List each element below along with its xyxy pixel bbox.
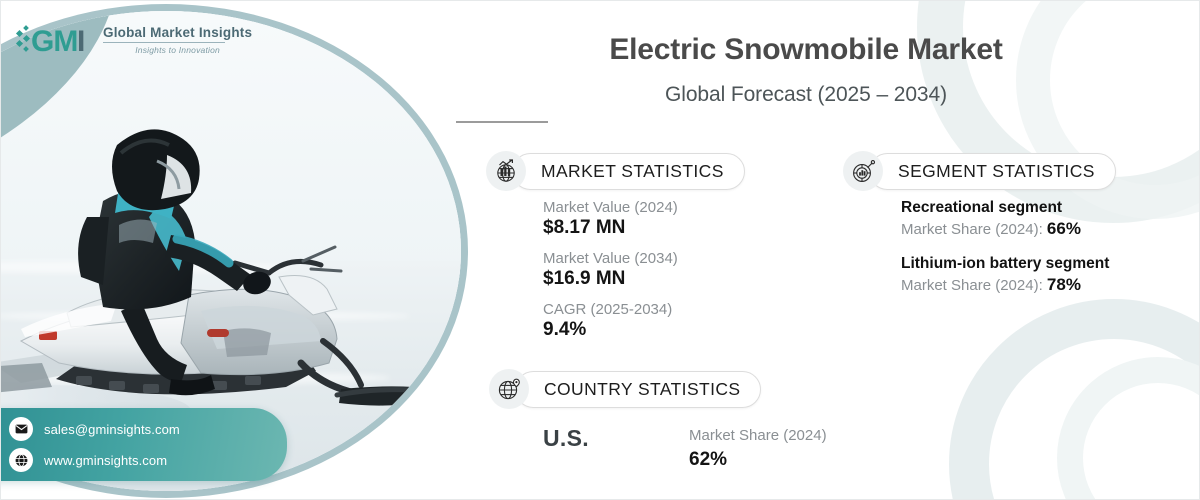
- infographic-root: GM I Global Market Insights Insights to …: [0, 0, 1200, 500]
- segment-2-name: Lithium-ion battery segment: [901, 255, 1109, 273]
- market-statistics-label: MARKET STATISTICS: [512, 153, 745, 190]
- logo-text: Global Market Insights Insights to Innov…: [103, 26, 252, 55]
- contact-website: www.gminsights.com: [44, 453, 167, 468]
- market-value-2034-label: Market Value (2034): [543, 250, 678, 267]
- country-statistics-label: COUNTRY STATISTICS: [515, 371, 761, 408]
- market-statistics-header[interactable]: MARKET STATISTICS: [486, 151, 745, 191]
- gmi-diamond-mark-icon: GM I: [15, 23, 95, 57]
- segment-2-share: Market Share (2024): 78%: [901, 275, 1109, 295]
- segment-2-share-label: Market Share (2024):: [901, 277, 1047, 294]
- segment-1-share: Market Share (2024): 66%: [901, 219, 1109, 239]
- content-area: Electric Snowmobile Market Global Foreca…: [451, 1, 1199, 500]
- logo-tagline: Insights to Innovation: [103, 46, 252, 55]
- segment-2-share-value: 78%: [1047, 275, 1081, 294]
- svg-text:I: I: [77, 25, 85, 57]
- gmi-logo[interactable]: GM I Global Market Insights Insights to …: [15, 23, 252, 57]
- country-statistics-header[interactable]: COUNTRY STATISTICS: [489, 369, 761, 409]
- page-subtitle: Global Forecast (2025 – 2034): [456, 83, 1156, 107]
- logo-company-name: Global Market Insights: [103, 26, 252, 40]
- segment-statistics-header[interactable]: SEGMENT STATISTICS: [843, 151, 1116, 191]
- svg-text:GM: GM: [31, 25, 77, 57]
- segment-statistics-values: Recreational segment Market Share (2024)…: [901, 199, 1109, 311]
- segment-1-share-label: Market Share (2024):: [901, 221, 1047, 238]
- market-value-2034-value: $16.9 MN: [543, 268, 678, 290]
- segment-1-share-value: 66%: [1047, 219, 1081, 238]
- envelope-icon: [9, 417, 33, 441]
- contact-badge[interactable]: sales@gminsights.com www.gminsights.com: [0, 408, 287, 481]
- page-title: Electric Snowmobile Market: [456, 33, 1156, 67]
- contact-email-row[interactable]: sales@gminsights.com: [9, 417, 275, 441]
- cagr-label: CAGR (2025-2034): [543, 301, 678, 318]
- globe-pin-icon: [489, 369, 529, 409]
- contact-website-row[interactable]: www.gminsights.com: [9, 448, 275, 472]
- segment-statistics-label: SEGMENT STATISTICS: [869, 153, 1116, 190]
- country-share-value: 62%: [689, 449, 727, 471]
- title-divider: [456, 121, 548, 123]
- market-value-2024-label: Market Value (2024): [543, 199, 678, 216]
- contact-email: sales@gminsights.com: [44, 422, 180, 437]
- cagr-value: 9.4%: [543, 319, 678, 341]
- donut-chart-target-icon: [843, 151, 883, 191]
- country-share-label: Market Share (2024): [689, 427, 827, 444]
- market-statistics-values: Market Value (2024) $8.17 MN Market Valu…: [543, 199, 678, 352]
- market-value-2024-value: $8.17 MN: [543, 217, 678, 239]
- globe-bar-chart-icon: [486, 151, 526, 191]
- country-name: U.S.: [543, 425, 589, 452]
- globe-icon: [9, 448, 33, 472]
- segment-1-name: Recreational segment: [901, 199, 1109, 217]
- logo-divider: [103, 42, 225, 43]
